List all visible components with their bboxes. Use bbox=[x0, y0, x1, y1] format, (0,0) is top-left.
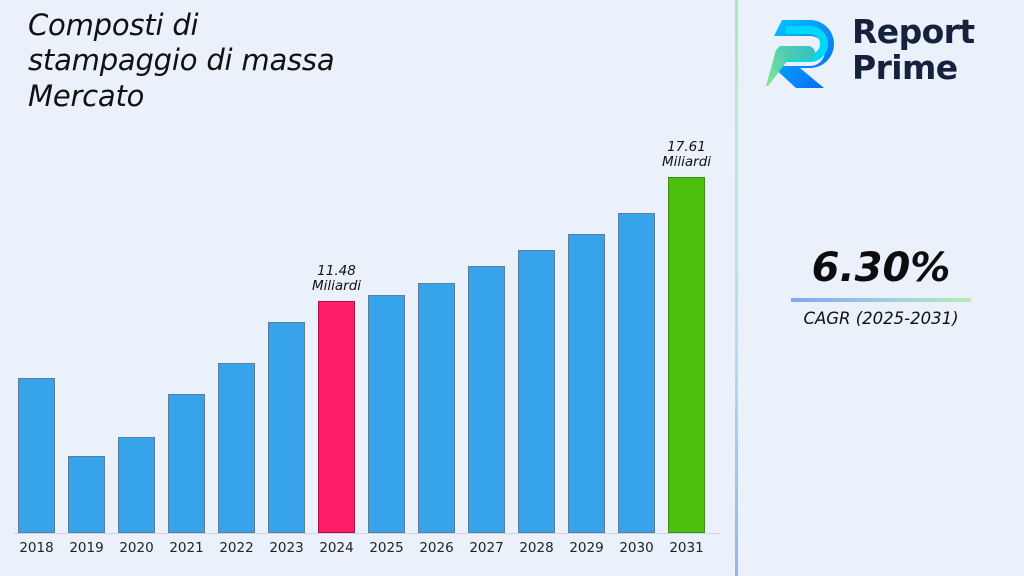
cagr-value: 6.30% bbox=[738, 248, 1024, 288]
report-prime-logo: Report Prime bbox=[760, 10, 1010, 94]
bar-rect-2019 bbox=[68, 456, 105, 533]
x-axis-tick-2026: 2026 bbox=[418, 540, 455, 556]
bar-rect-2018 bbox=[18, 378, 55, 533]
bar-2029 bbox=[568, 234, 605, 533]
bar-rect-2022 bbox=[218, 363, 255, 533]
x-axis-tick-2025: 2025 bbox=[368, 540, 405, 556]
x-axis-tick-2028: 2028 bbox=[518, 540, 555, 556]
infographic-page: Composti di stampaggio di massa Mercato … bbox=[0, 0, 1024, 576]
x-axis-tick-2027: 2027 bbox=[468, 540, 505, 556]
x-axis-tick-2030: 2030 bbox=[618, 540, 655, 556]
x-axis-tick-2021: 2021 bbox=[168, 540, 205, 556]
bar-2020 bbox=[118, 437, 155, 533]
bar-value-label-2031: 17.61 Miliardi bbox=[662, 140, 711, 171]
x-axis-line bbox=[14, 533, 720, 534]
bar-rect-2029 bbox=[568, 234, 605, 533]
bar-rect-2031 bbox=[668, 177, 705, 533]
cagr-divider-rule bbox=[791, 298, 971, 302]
x-axis-tick-2023: 2023 bbox=[268, 540, 305, 556]
report-prime-r-mark bbox=[766, 16, 844, 90]
x-axis-tick-2022: 2022 bbox=[218, 540, 255, 556]
bar-rect-2028 bbox=[518, 250, 555, 533]
bar-rect-2023 bbox=[268, 322, 305, 533]
cagr-block: 6.30% CAGR (2025-2031) bbox=[738, 248, 1024, 328]
bar-2023 bbox=[268, 322, 305, 533]
bar-value-label-2024: 11.48 Miliardi bbox=[312, 264, 361, 295]
bar-rect-2021 bbox=[168, 394, 205, 533]
x-axis-tick-2019: 2019 bbox=[68, 540, 105, 556]
x-axis-tick-2031: 2031 bbox=[668, 540, 705, 556]
bar-2028 bbox=[518, 250, 555, 533]
bar-2025 bbox=[368, 295, 405, 533]
bar-chart-plot-area: 20182019202020212022202311.48 Miliardi20… bbox=[0, 0, 736, 576]
bar-2021 bbox=[168, 394, 205, 533]
x-axis-tick-2029: 2029 bbox=[568, 540, 605, 556]
bar-rect-2025 bbox=[368, 295, 405, 533]
bar-rect-2027 bbox=[468, 266, 505, 533]
bar-rect-2026 bbox=[418, 283, 455, 533]
bar-2024: 11.48 Miliardi bbox=[318, 301, 355, 533]
cagr-caption: CAGR (2025-2031) bbox=[738, 309, 1024, 328]
bar-2031: 17.61 Miliardi bbox=[668, 177, 705, 533]
brand-panel: Report Prime 6.30% CAGR (2025-2031) bbox=[738, 0, 1024, 576]
bar-2026 bbox=[418, 283, 455, 533]
x-axis-tick-2020: 2020 bbox=[118, 540, 155, 556]
bar-2019 bbox=[68, 456, 105, 533]
x-axis-tick-2018: 2018 bbox=[18, 540, 55, 556]
bar-rect-2030 bbox=[618, 213, 655, 533]
x-axis-tick-2024: 2024 bbox=[318, 540, 355, 556]
bar-rect-2020 bbox=[118, 437, 155, 533]
bar-2022 bbox=[218, 363, 255, 533]
bar-2018 bbox=[18, 378, 55, 533]
bar-2030 bbox=[618, 213, 655, 533]
chart-panel: Composti di stampaggio di massa Mercato … bbox=[0, 0, 736, 576]
logo-wordmark: Report Prime bbox=[852, 14, 975, 85]
bar-rect-2024 bbox=[318, 301, 355, 533]
bar-2027 bbox=[468, 266, 505, 533]
